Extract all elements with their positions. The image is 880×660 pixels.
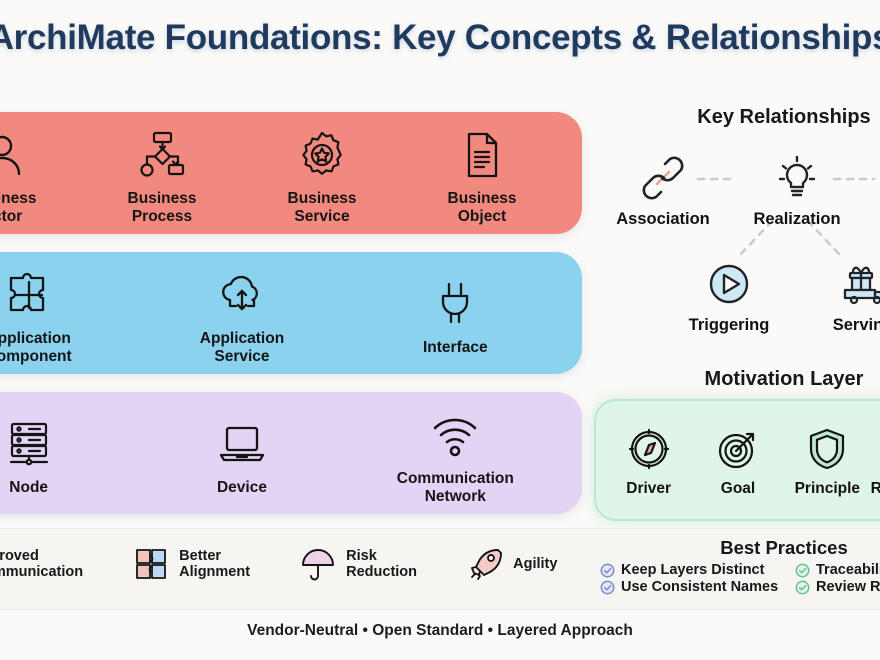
relationship-serving[interactable]: Serving [800, 257, 880, 335]
benefit-agility[interactable]: Agility [466, 545, 557, 583]
best-practice-label: Keep Layers Distinct [621, 562, 764, 578]
server-icon [3, 416, 55, 472]
relationship-assignment[interactable]: Assignment [866, 151, 880, 229]
target-icon [715, 423, 761, 475]
best-practice-item[interactable]: Use Consistent Names [600, 579, 779, 595]
concept-business-object[interactable]: Business Object [407, 121, 557, 225]
rocket-icon [466, 545, 504, 583]
poster-canvas: ArchiMate Foundations: Key Concepts & Re… [0, 0, 880, 660]
concept-application-service[interactable]: Application Service [167, 261, 317, 365]
motivation-driver[interactable]: Driver [604, 423, 693, 498]
concept-label: Business Actor [0, 190, 36, 225]
band-business-layer: Business Actor Business Process [0, 112, 582, 234]
concept-label: Interface [423, 339, 488, 356]
motivation-layer-title: Motivation Layer [594, 368, 880, 391]
concept-label: Business Object [448, 190, 517, 225]
check-circle-icon [600, 563, 615, 578]
motivation-label: Principle [795, 480, 860, 498]
benefit-label: Improved Communication [0, 548, 83, 580]
puzzle-icon [3, 267, 55, 323]
relationship-label: Triggering [689, 316, 770, 335]
relationship-triggering[interactable]: Triggering [666, 257, 792, 335]
best-practices-panel: Best Practices Keep Layers Distinct [594, 537, 880, 595]
relationship-label: Realization [753, 210, 840, 229]
gear-star-icon [296, 127, 348, 183]
flowchart-icon [136, 127, 188, 183]
lightbulb-icon [773, 151, 821, 205]
band-technology-layer: Node Device [0, 392, 582, 514]
relationship-grid: Association Realization [594, 137, 880, 347]
layer-stack: Business Actor Business Process [0, 112, 582, 532]
motivation-items-box: Driver Goal [594, 399, 880, 521]
laptop-icon [216, 416, 268, 472]
wifi-icon [429, 407, 481, 463]
check-circle-icon [600, 580, 615, 595]
best-practice-label: Use Consistent Names [621, 579, 778, 595]
benefit-risk-reduction[interactable]: Risk Reduction [299, 545, 417, 583]
best-practice-item[interactable]: Traceability [795, 562, 880, 578]
key-relationships-title: Key Relationships [594, 106, 880, 129]
best-practices-title: Best Practices [594, 537, 880, 559]
best-practice-item[interactable]: Review Regularly [795, 579, 880, 595]
motivation-label: Requirement [871, 480, 880, 498]
cloud-sync-icon [216, 267, 268, 323]
concept-business-service[interactable]: Business Service [247, 121, 397, 225]
plug-icon [429, 276, 481, 332]
chain-link-icon [639, 151, 687, 205]
concept-label: Communication Network [397, 470, 514, 505]
best-practice-label: Traceability [816, 562, 880, 578]
band-application-layer: Application Component Application Servic… [0, 252, 582, 374]
benefit-improved-communication[interactable]: Improved Communication [0, 545, 83, 583]
motivation-label: Goal [721, 480, 755, 498]
concept-communication-network[interactable]: Communication Network [380, 401, 530, 505]
concept-application-component[interactable]: Application Component [0, 261, 104, 365]
motivation-layer-panel: Motivation Layer Driver [594, 368, 880, 521]
best-practice-label: Review Regularly [816, 579, 880, 595]
motivation-label: Driver [626, 480, 671, 498]
page-title-text: ArchiMate Foundations: Key Concepts & Re… [0, 18, 880, 58]
check-circle-icon [795, 580, 810, 595]
bottom-strip: Improved Communication Better Alignment [0, 528, 880, 610]
play-circle-icon [705, 257, 753, 311]
concept-label: Business Process [128, 190, 197, 225]
person-icon [0, 127, 28, 183]
best-practice-item[interactable]: Keep Layers Distinct [600, 562, 779, 578]
footer-text: Vendor-Neutral • Open Standard • Layered… [247, 622, 633, 639]
concept-node[interactable]: Node [0, 410, 104, 496]
puzzle-pieces-icon [132, 545, 170, 583]
motivation-requirement[interactable]: Requirement [872, 423, 880, 498]
benefit-better-alignment[interactable]: Better Alignment [132, 545, 250, 583]
benefit-label: Agility [513, 556, 557, 572]
benefits-row: Improved Communication Better Alignment [0, 545, 582, 583]
concept-label: Node [9, 479, 48, 496]
concept-device[interactable]: Device [167, 410, 317, 496]
concept-label: Application Component [0, 330, 72, 365]
gift-delivery-icon [839, 257, 880, 311]
footer: Vendor-Neutral • Open Standard • Layered… [0, 622, 880, 640]
page-title: ArchiMate Foundations: Key Concepts & Re… [0, 18, 880, 58]
concept-label: Device [217, 479, 267, 496]
concept-interface[interactable]: Interface [380, 270, 530, 356]
relationship-label: Association [616, 210, 710, 229]
key-relationships-panel: Key Relationships Association [594, 106, 880, 347]
check-circle-icon [795, 563, 810, 578]
benefit-label: Risk Reduction [346, 548, 417, 580]
relationship-association[interactable]: Association [600, 151, 726, 229]
concept-label: Business Service [288, 190, 357, 225]
motivation-goal[interactable]: Goal [693, 423, 782, 498]
benefit-label: Better Alignment [179, 548, 250, 580]
document-icon [456, 127, 508, 183]
umbrella-icon [299, 545, 337, 583]
shield-icon [804, 423, 850, 475]
best-practices-grid: Keep Layers Distinct Traceability [594, 562, 880, 595]
concept-business-process[interactable]: Business Process [87, 121, 237, 225]
relationship-realization[interactable]: Realization [734, 151, 860, 229]
relationship-label: Serving [833, 316, 880, 335]
concept-business-actor[interactable]: Business Actor [0, 121, 77, 225]
concept-label: Application Service [200, 330, 284, 365]
motivation-principle[interactable]: Principle [783, 423, 872, 498]
compass-icon [626, 423, 672, 475]
